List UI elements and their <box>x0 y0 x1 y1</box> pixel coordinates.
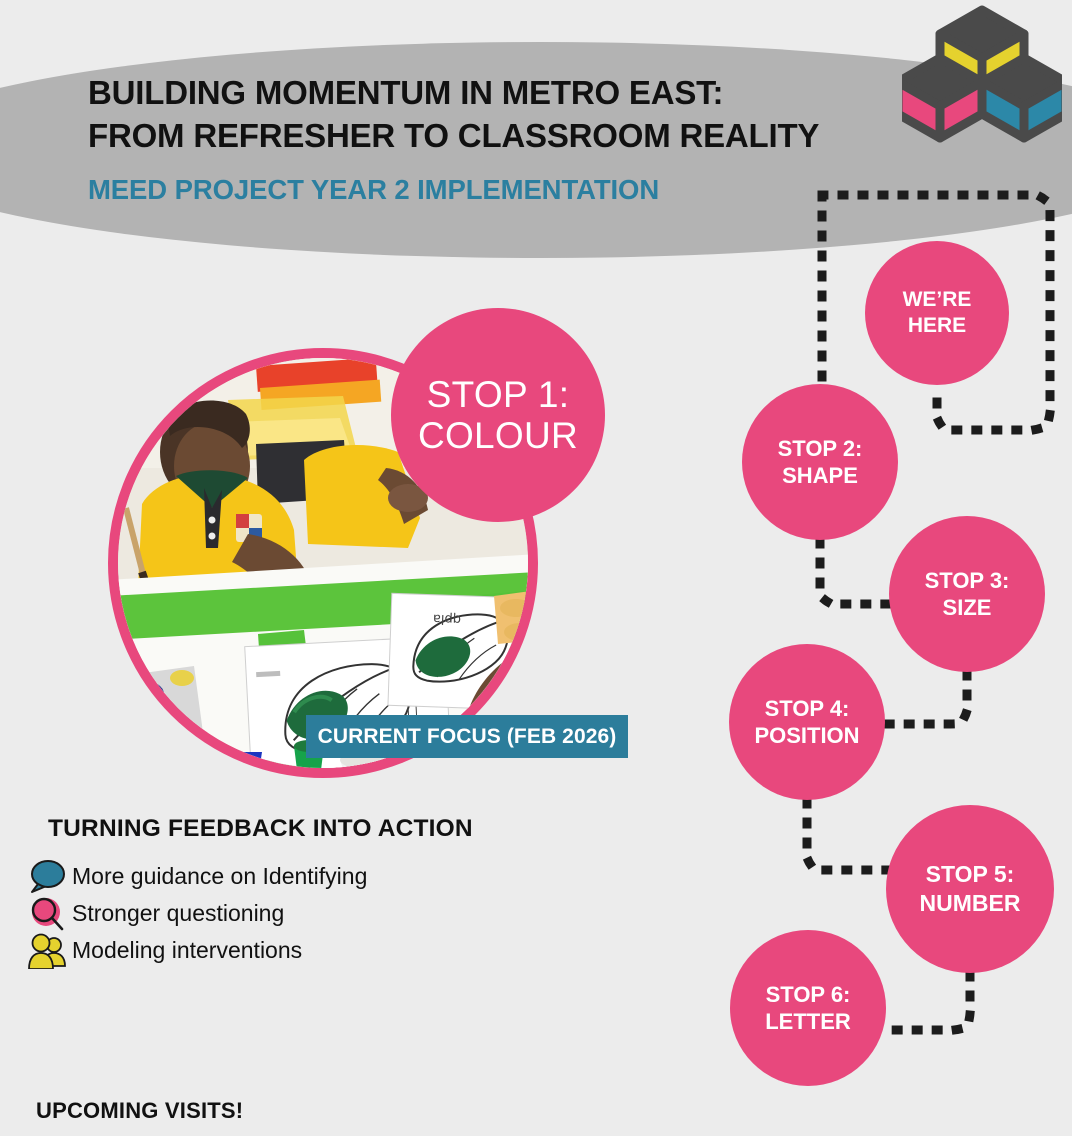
feedback-heading: TURNING FEEDBACK INTO ACTION <box>48 815 473 843</box>
stop-line-1: STOP 4: <box>765 695 850 723</box>
journey-stop-5-number[interactable]: STOP 5: NUMBER <box>886 805 1054 973</box>
stop-line-2: SIZE <box>943 594 992 622</box>
journey-stop-3-size[interactable]: STOP 3: SIZE <box>889 516 1045 672</box>
current-stop-line-2: COLOUR <box>418 415 578 456</box>
stop-line-2: LETTER <box>765 1008 851 1036</box>
current-focus-banner: CURRENT FOCUS (FEB 2026) <box>306 715 628 758</box>
upcoming-visits-heading: UPCOMING VISITS! <box>36 1098 243 1124</box>
svg-text:qpla: qpla <box>433 611 462 627</box>
infographic-canvas: BUILDING MOMENTUM IN METRO EAST: FROM RE… <box>0 0 1072 1136</box>
speech-bubble-icon <box>28 858 70 895</box>
current-stop-badge: STOP 1: COLOUR <box>391 308 605 522</box>
journey-stop-2-shape[interactable]: STOP 2: SHAPE <box>742 384 898 540</box>
feedback-item: Modeling interventions <box>28 932 548 969</box>
feedback-list: More guidance on Identifying Stronger qu… <box>28 858 548 969</box>
feedback-item-label: Modeling interventions <box>72 939 302 962</box>
magnifier-icon <box>28 895 70 932</box>
feedback-item: Stronger questioning <box>28 895 548 932</box>
stop-line-1: STOP 6: <box>766 981 851 1009</box>
stop-line-1: STOP 2: <box>778 435 863 463</box>
stop-line-2: NUMBER <box>920 889 1021 918</box>
journey-stop-were-here[interactable]: WE’RE HERE <box>865 241 1009 385</box>
feedback-item: More guidance on Identifying <box>28 858 548 895</box>
stop-line-1: WE’RE <box>903 287 972 313</box>
current-stop-line-1: STOP 1: <box>427 374 570 415</box>
stop-line-2: SHAPE <box>782 462 858 490</box>
stop-line-2: HERE <box>908 313 966 339</box>
journey-stop-6-letter[interactable]: STOP 6: LETTER <box>730 930 886 1086</box>
feedback-item-label: More guidance on Identifying <box>72 865 367 888</box>
feedback-item-label: Stronger questioning <box>72 902 284 925</box>
people-group-icon <box>28 932 70 969</box>
stop-line-2: POSITION <box>754 722 859 750</box>
journey-stop-4-position[interactable]: STOP 4: POSITION <box>729 644 885 800</box>
stop-line-1: STOP 3: <box>925 567 1010 595</box>
stop-line-1: STOP 5: <box>926 860 1015 889</box>
